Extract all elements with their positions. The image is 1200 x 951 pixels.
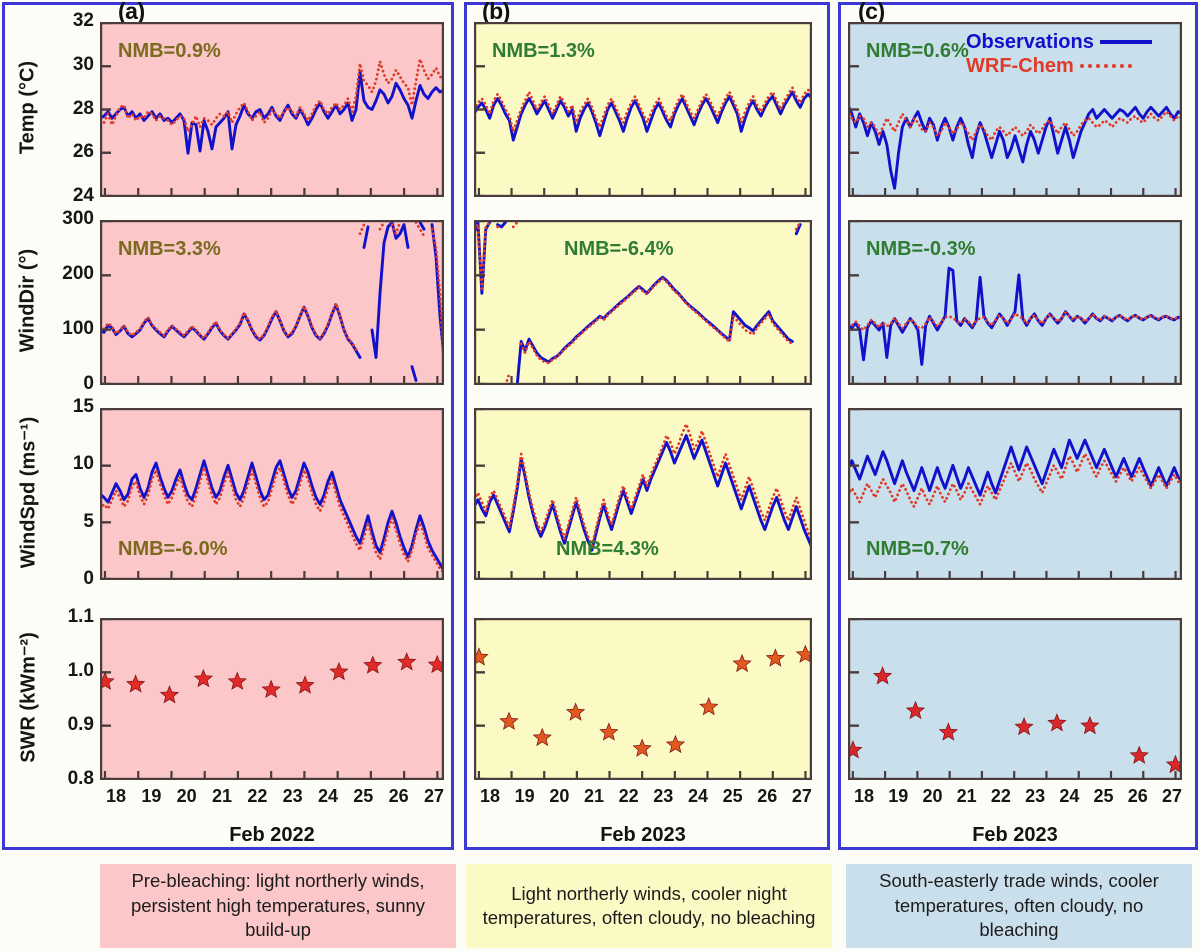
x-tick-c-2: 20: [922, 786, 942, 807]
nmb-label-b-windspd: NMB=4.3%: [556, 538, 659, 561]
y-tick-winddir-2: 100: [38, 318, 94, 340]
plot-c-swr: [848, 618, 1182, 780]
x-tick-c-8: 26: [1128, 786, 1148, 807]
y-tick-swr-3: 0.8: [38, 768, 94, 790]
x-tick-labels-a: 18192021222324252627: [106, 786, 444, 807]
y-tick-temp-3: 26: [38, 141, 94, 163]
y-axis-title-winddir: WindDir (°): [17, 200, 40, 400]
x-tick-b-7: 25: [723, 786, 743, 807]
x-tick-c-1: 19: [888, 786, 908, 807]
legend-entry-0: Observations: [966, 30, 1152, 54]
plot-a-swr: [100, 618, 444, 780]
x-tick-b-2: 20: [549, 786, 569, 807]
x-tick-a-9: 27: [424, 786, 444, 807]
x-tick-a-1: 19: [141, 786, 161, 807]
x-tick-c-6: 24: [1059, 786, 1079, 807]
x-tick-b-5: 23: [653, 786, 673, 807]
y-tick-winddir-1: 200: [38, 263, 94, 285]
nmb-label-c-temp: NMB=0.6%: [866, 40, 969, 63]
nmb-label-a-temp: NMB=0.9%: [118, 40, 221, 63]
y-tick-swr-0: 1.1: [38, 606, 94, 628]
line-dotted-icon: [1080, 64, 1132, 68]
x-tick-a-7: 25: [353, 786, 373, 807]
legend-label-0: Observations: [966, 31, 1094, 54]
x-tick-c-3: 21: [957, 786, 977, 807]
y-tick-windspd-0: 15: [38, 396, 94, 418]
x-tick-c-7: 25: [1094, 786, 1114, 807]
x-tick-a-3: 21: [212, 786, 232, 807]
nmb-label-c-windspd: NMB=0.7%: [866, 538, 969, 561]
x-tick-labels-b: 18192021222324252627: [480, 786, 812, 807]
x-tick-a-4: 22: [247, 786, 267, 807]
x-tick-a-2: 20: [177, 786, 197, 807]
legend-label-1: WRF-Chem: [966, 55, 1074, 78]
y-tick-swr-1: 1.0: [38, 660, 94, 682]
x-tick-a-6: 24: [318, 786, 338, 807]
x-tick-b-6: 24: [688, 786, 708, 807]
x-tick-c-4: 22: [991, 786, 1011, 807]
x-axis-label-a: Feb 2022: [100, 824, 444, 847]
y-tick-winddir-3: 0: [38, 373, 94, 395]
x-tick-a-0: 18: [106, 786, 126, 807]
x-axis-label-c: Feb 2023: [848, 824, 1182, 847]
plot-svg-c-swr: [848, 618, 1182, 780]
y-tick-winddir-0: 300: [38, 208, 94, 230]
x-tick-b-8: 26: [757, 786, 777, 807]
nmb-label-b-temp: NMB=1.3%: [492, 40, 595, 63]
y-axis-title-temp: Temp (°C): [17, 7, 40, 207]
x-tick-c-9: 27: [1162, 786, 1182, 807]
x-tick-b-3: 21: [584, 786, 604, 807]
x-tick-b-0: 18: [480, 786, 500, 807]
nmb-label-a-winddir: NMB=3.3%: [118, 238, 221, 261]
y-tick-windspd-1: 10: [38, 453, 94, 475]
figure-root: Pre-bleaching: light northerly winds, pe…: [0, 0, 1200, 951]
nmb-label-c-winddir: NMB=-0.3%: [866, 238, 975, 261]
y-tick-temp-2: 28: [38, 98, 94, 120]
x-tick-b-9: 27: [792, 786, 812, 807]
x-tick-b-4: 22: [619, 786, 639, 807]
x-tick-b-1: 19: [515, 786, 535, 807]
x-tick-labels-c: 18192021222324252627: [854, 786, 1182, 807]
line-solid-icon: [1100, 40, 1152, 44]
x-axis-label-b: Feb 2023: [474, 824, 812, 847]
y-axis-title-swr: SWR (kWm⁻²): [16, 598, 41, 798]
caption-a: Pre-bleaching: light northerly winds, pe…: [100, 864, 456, 948]
plot-svg-b-swr: [474, 618, 812, 780]
x-tick-c-5: 23: [1025, 786, 1045, 807]
x-tick-a-8: 26: [389, 786, 409, 807]
nmb-label-a-windspd: NMB=-6.0%: [118, 538, 227, 561]
y-axis-title-windspd: WindSpd (ms⁻¹): [16, 393, 41, 593]
nmb-label-b-winddir: NMB=-6.4%: [564, 238, 673, 261]
caption-b: Light northerly winds, cooler night temp…: [466, 864, 832, 948]
y-tick-temp-4: 24: [38, 185, 94, 207]
x-tick-c-0: 18: [854, 786, 874, 807]
x-tick-a-5: 23: [283, 786, 303, 807]
legend-entry-1: WRF-Chem: [966, 54, 1152, 78]
plot-svg-a-swr: [100, 618, 444, 780]
caption-c: South-easterly trade winds, cooler tempe…: [846, 864, 1192, 948]
y-tick-swr-2: 0.9: [38, 714, 94, 736]
y-tick-temp-1: 30: [38, 54, 94, 76]
y-tick-windspd-2: 5: [38, 511, 94, 533]
y-tick-windspd-3: 0: [38, 568, 94, 590]
legend: ObservationsWRF-Chem: [966, 30, 1152, 78]
plot-b-swr: [474, 618, 812, 780]
y-tick-temp-0: 32: [38, 10, 94, 32]
